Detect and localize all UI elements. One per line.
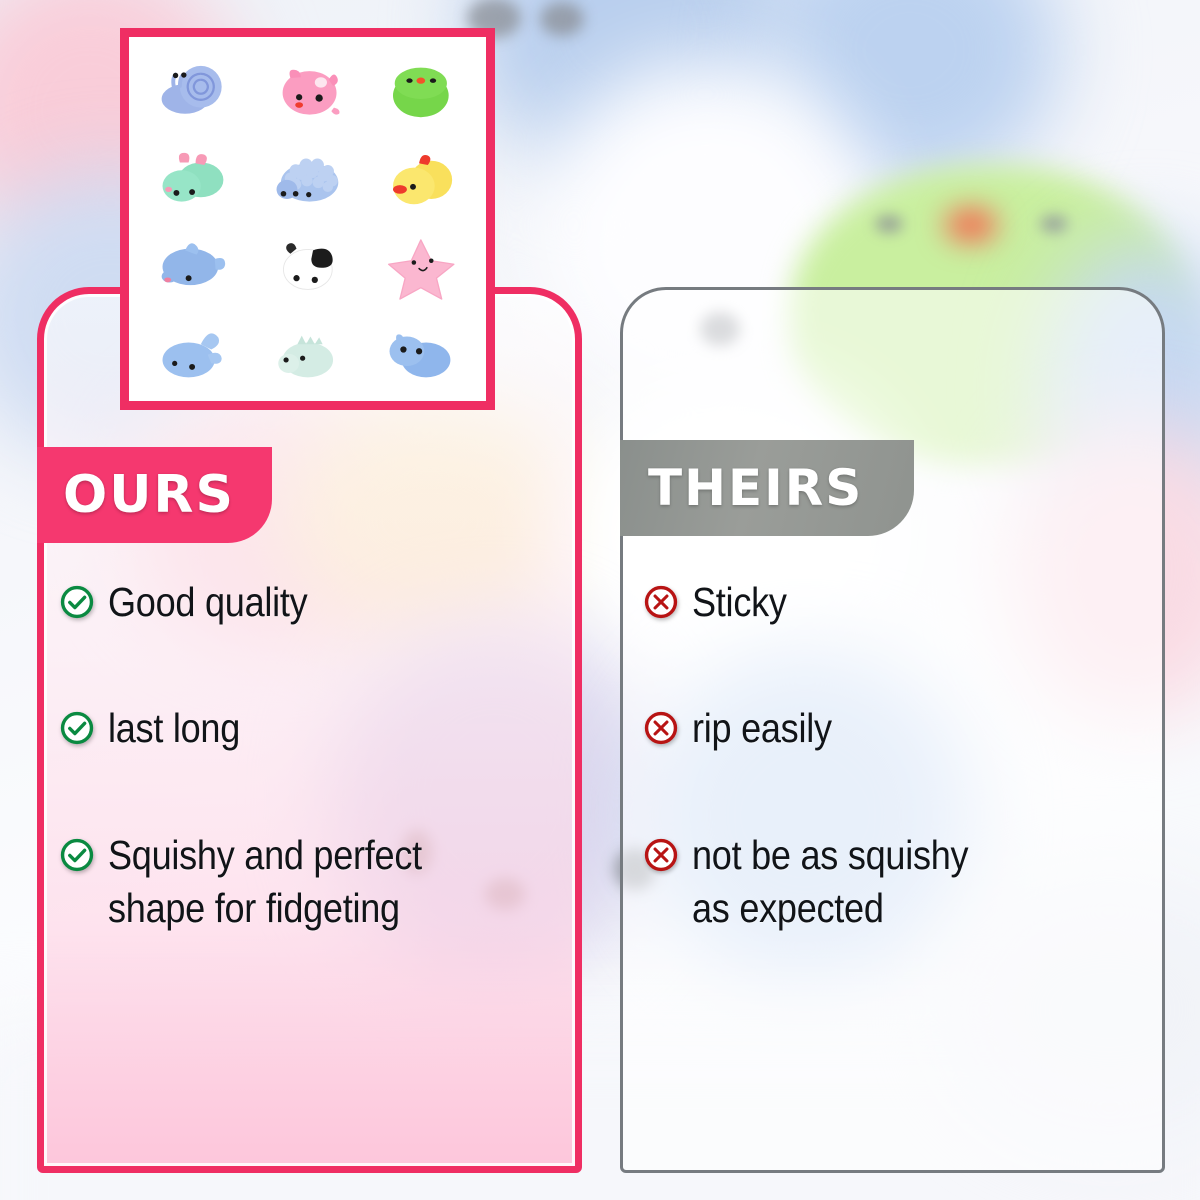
toy-hedgehog-blue bbox=[251, 132, 365, 219]
ours-banner-label: OURS bbox=[63, 469, 235, 521]
toy-snail bbox=[137, 45, 251, 132]
toy-duck-yellow bbox=[364, 132, 478, 219]
toy-starfish-pink bbox=[364, 219, 478, 306]
toy-bunny-mint bbox=[137, 132, 251, 219]
product-toy-grid bbox=[137, 45, 478, 393]
toy-pig bbox=[251, 45, 365, 132]
list-item: Squishy and perfect shape for fidgeting bbox=[60, 829, 570, 936]
list-item: Sticky bbox=[644, 576, 1144, 629]
list-item-label: Good quality bbox=[108, 576, 307, 629]
toy-dolphin-blue bbox=[137, 219, 251, 306]
list-item-label: last long bbox=[108, 702, 240, 755]
toy-hippo-blue bbox=[364, 306, 478, 393]
toy-whale-blue bbox=[137, 306, 251, 393]
toy-chick-green bbox=[364, 45, 478, 132]
list-item: not be as squishy as expected bbox=[644, 829, 1144, 936]
list-item-label: not be as squishy as expected bbox=[692, 829, 968, 936]
list-item-label: rip easily bbox=[692, 702, 832, 755]
list-item: last long bbox=[60, 702, 570, 755]
toy-panda bbox=[251, 219, 365, 306]
toy-dino-mint bbox=[251, 306, 365, 393]
ours-banner: OURS bbox=[37, 447, 272, 543]
list-item-label: Sticky bbox=[692, 576, 787, 629]
x-circle-icon bbox=[644, 585, 678, 619]
x-circle-icon bbox=[644, 711, 678, 745]
check-circle-icon bbox=[60, 585, 94, 619]
list-item: Good quality bbox=[60, 576, 570, 629]
theirs-banner: THEIRS bbox=[620, 440, 914, 536]
list-item: rip easily bbox=[644, 702, 1144, 755]
check-circle-icon bbox=[60, 838, 94, 872]
product-image-frame bbox=[120, 28, 495, 410]
theirs-banner-label: THEIRS bbox=[648, 463, 863, 513]
ours-feature-list: Good quality last long Squishy and perfe… bbox=[60, 576, 570, 935]
list-item-label: Squishy and perfect shape for fidgeting bbox=[108, 829, 422, 936]
theirs-feature-list: Sticky rip easily not be as squishy as e… bbox=[644, 576, 1144, 935]
check-circle-icon bbox=[60, 711, 94, 745]
x-circle-icon bbox=[644, 838, 678, 872]
